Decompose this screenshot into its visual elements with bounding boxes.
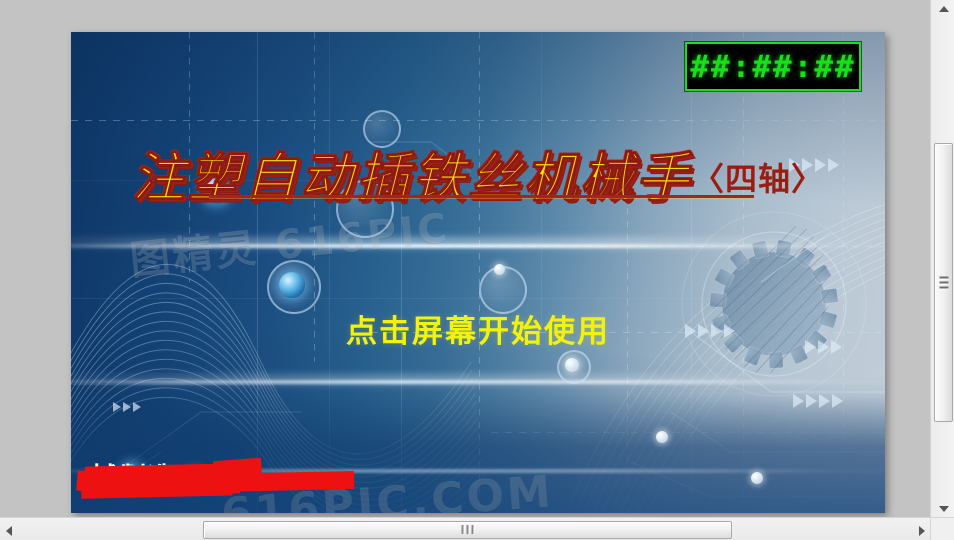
scroll-up-arrow-icon[interactable] (939, 6, 949, 12)
horizontal-scrollbar[interactable] (0, 517, 931, 540)
horizontal-scrollbar-thumb[interactable] (203, 521, 732, 539)
vertical-scrollbar-thumb[interactable] (934, 143, 953, 422)
node-dot-pale-4 (494, 264, 505, 275)
node-dot-pale-2 (656, 431, 668, 443)
node-dot-pale-1 (565, 358, 579, 372)
scroll-right-arrow-icon[interactable] (919, 526, 925, 536)
redaction-mark (85, 463, 241, 496)
presentation-slide[interactable]: 图精灵 616PIC 616PIC.COM ##:##:## 注塑自动插铁丝机械… (71, 32, 885, 513)
clock-time-text: ##:##:## (690, 49, 855, 85)
light-streak-lower-glow (71, 375, 885, 384)
start-prompt-text[interactable]: 点击屏幕开始使用 (71, 306, 885, 351)
horizontal-thumb-grip-icon (460, 521, 475, 539)
clock-display: ##:##:## (685, 42, 861, 91)
node-dot-glow-2 (279, 272, 305, 298)
slide-title-main: 注塑自动插铁丝机械手 (132, 147, 692, 209)
vertical-scrollbar[interactable] (930, 0, 954, 518)
slide-title-suffix: 〈四轴〉 (692, 160, 824, 198)
arrow-strip-4 (793, 394, 843, 408)
arrow-strip-5 (113, 402, 141, 412)
node-dot-pale-3 (751, 472, 763, 484)
slide-title-underline (209, 195, 754, 198)
vertical-thumb-grip-icon (939, 274, 948, 291)
application-window: 图精灵 616PIC 616PIC.COM ##:##:## 注塑自动插铁丝机械… (0, 0, 954, 540)
scroll-down-arrow-icon[interactable] (939, 506, 949, 512)
slide-title: 注塑自动插铁丝机械手〈四轴〉 (71, 136, 885, 212)
scroll-left-arrow-icon[interactable] (6, 526, 12, 536)
scrollbar-corner (930, 517, 954, 540)
slide-viewport[interactable]: 图精灵 616PIC 616PIC.COM ##:##:## 注塑自动插铁丝机械… (0, 0, 931, 518)
